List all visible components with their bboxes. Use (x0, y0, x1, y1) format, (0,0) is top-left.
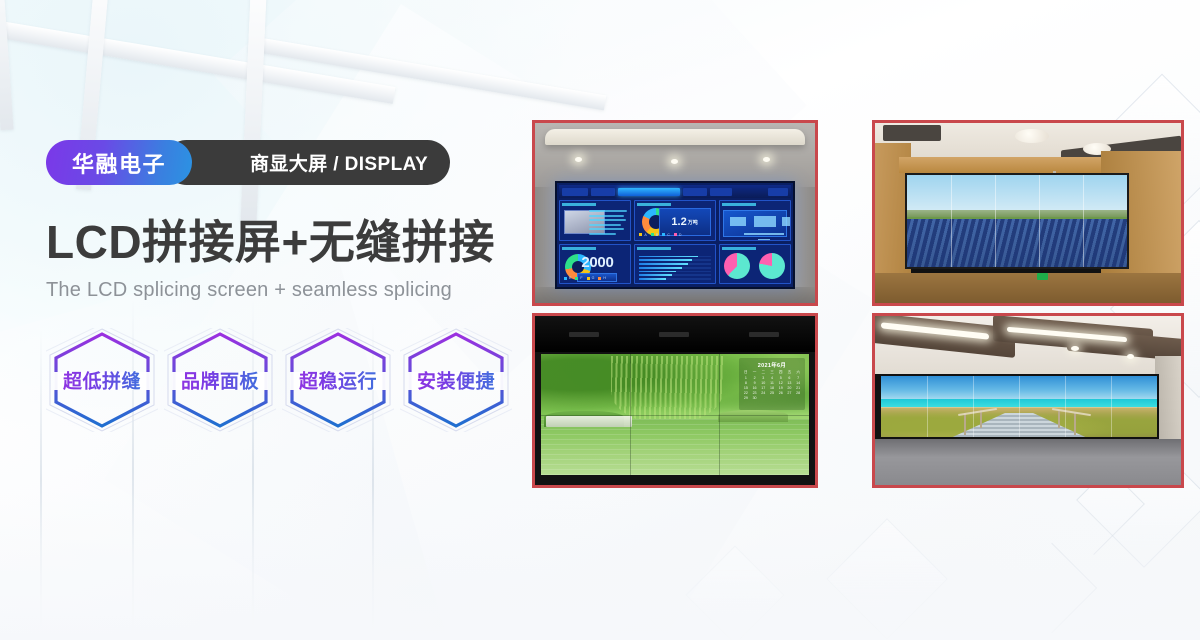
lakeside-railing (546, 416, 632, 427)
dashboard-card-donut: 1.2万吨 A B C D (634, 200, 715, 241)
dashboard-grid: 1.2万吨 A B C D (559, 200, 791, 284)
feature-badge: 安装便捷 (400, 328, 512, 432)
product-photo-solar-wall (872, 120, 1184, 306)
video-wall-screen: 2021年6月 日 一 二 三 四 五 六 1234567 8910111213… (541, 354, 809, 475)
brand-badge-row: 商显大屏 / DISPLAY 华融电子 (46, 140, 516, 185)
dashboard-card-bars (634, 244, 715, 285)
product-photo-beach-wall (872, 313, 1184, 488)
ceiling-downlight (1127, 354, 1134, 359)
feature-badge: 超低拼缝 (46, 328, 158, 432)
video-wall-screen (879, 374, 1159, 439)
solar-panel-array (907, 219, 1127, 267)
feature-badge-label: 超稳运行 (282, 366, 394, 393)
feature-badge: 超稳运行 (282, 328, 394, 432)
room-floor (875, 439, 1181, 485)
room-floor (875, 273, 1181, 303)
dashboard-card-counter: 2000 E F G H (559, 244, 631, 285)
ceiling-downlight (1071, 346, 1079, 351)
dashboard-card-intro (559, 200, 631, 241)
lake-water (541, 419, 809, 475)
decor-chevron-2 (1007, 543, 1098, 634)
pie-chart-group (720, 253, 790, 279)
banner-text-column: 商显大屏 / DISPLAY 华融电子 LCD拼接屏+无缝拼接 The LCD … (46, 140, 516, 432)
bar-chart (639, 256, 710, 281)
ceiling-beam-horizontal-1 (0, 16, 396, 104)
ceiling-dome (1015, 129, 1049, 143)
product-photo-lake-wall: 2021年6月 日 一 二 三 四 五 六 1234567 8910111213… (532, 313, 818, 488)
ceiling-beam-horizontal-2 (249, 36, 607, 110)
ceiling-spotlight (671, 159, 678, 164)
exit-sign-icon (1037, 273, 1048, 280)
ceiling-beam-vertical-3 (0, 0, 14, 130)
video-wall-bezel (535, 316, 815, 352)
dashboard-card-pies (719, 244, 791, 285)
dashboard-header (559, 185, 791, 198)
feature-badge-label: 超低拼缝 (46, 366, 158, 393)
category-badge: 商显大屏 / DISPLAY (164, 140, 450, 185)
dashboard-card-flow (719, 200, 791, 241)
promo-banner: 商显大屏 / DISPLAY 华融电子 LCD拼接屏+无缝拼接 The LCD … (0, 0, 1200, 640)
decor-diamond-4 (826, 518, 948, 640)
feature-badge: 品牌面板 (164, 328, 276, 432)
wood-header-panel (899, 157, 1135, 173)
product-photo-dashboard: 1.2万吨 A B C D (532, 120, 818, 306)
feature-badge-label: 品牌面板 (164, 366, 276, 393)
background-floor-reflection (0, 490, 1200, 640)
ceiling-spotlight (763, 157, 770, 162)
feature-badge-label: 安装便捷 (400, 366, 512, 393)
decor-diamond-5 (686, 546, 785, 640)
ceiling-cove (545, 129, 805, 145)
video-wall-screen (905, 173, 1129, 269)
feature-badge-list: 超低拼缝 品牌面板 超稳运行 (46, 328, 516, 432)
ceiling-spotlight (575, 157, 582, 162)
room-floor (535, 287, 815, 303)
video-wall-screen: 1.2万吨 A B C D (555, 181, 795, 289)
window-mullion-1 (40, 330, 42, 630)
ceiling-vent (883, 125, 941, 141)
page-title: LCD拼接屏+无缝拼接 (46, 217, 516, 269)
calendar-overlay: 2021年6月 日 一 二 三 四 五 六 1234567 8910111213… (739, 358, 805, 410)
page-subtitle: The LCD splicing screen + seamless splic… (46, 279, 516, 302)
brand-badge: 华融电子 (46, 140, 192, 185)
